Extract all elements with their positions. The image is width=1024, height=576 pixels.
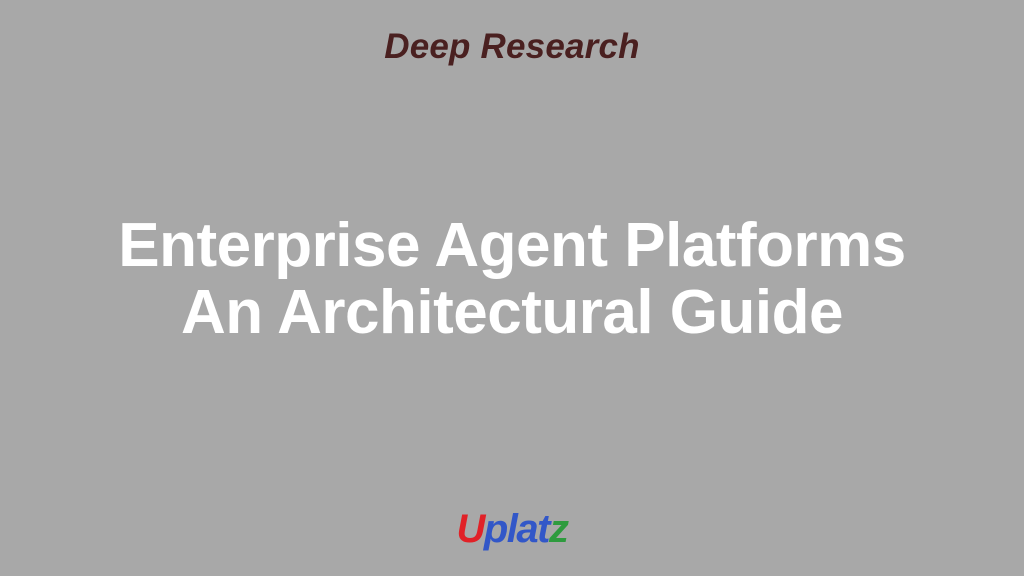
slide-kicker: Deep Research bbox=[0, 28, 1024, 67]
slide-title-block: Enterprise Agent Platforms An Architectu… bbox=[0, 212, 1024, 346]
uplatz-logo-letter-z: z bbox=[549, 507, 568, 551]
footer-logo-area: Uplatz bbox=[0, 508, 1024, 550]
slide-title-line-1: Enterprise Agent Platforms bbox=[0, 212, 1024, 279]
uplatz-logo-letter-u: U bbox=[456, 507, 483, 551]
uplatz-logo-letters-plat: plat bbox=[484, 507, 549, 551]
title-slide: Deep Research Enterprise Agent Platforms… bbox=[0, 0, 1024, 576]
uplatz-logo: Uplatz bbox=[456, 508, 567, 550]
slide-title-line-2: An Architectural Guide bbox=[0, 279, 1024, 346]
